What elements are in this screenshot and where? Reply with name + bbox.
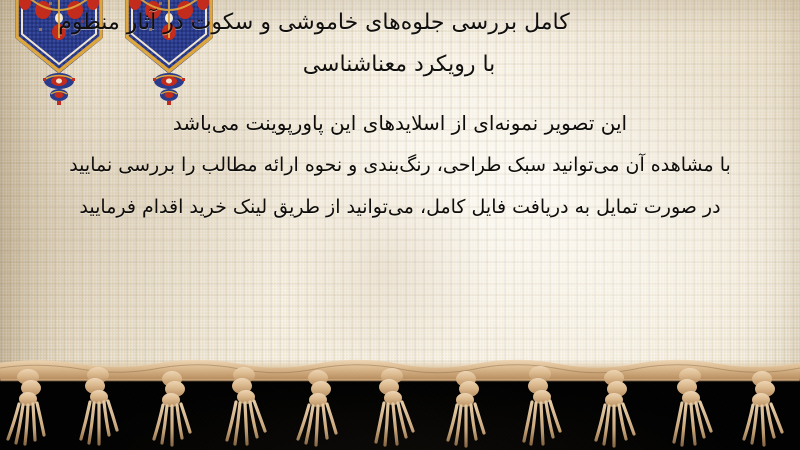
- fringe-tassels-icon: [0, 355, 800, 450]
- pendant-drop-lower: [160, 89, 178, 101]
- body-line-1: این تصویر نمونه‌ای از اسلایدهای این پاور…: [14, 102, 786, 144]
- slide-title-line-1: کامل بررسی جلوه‌های خاموشی و سکوت در آثا…: [8, 2, 790, 44]
- slide-body: این تصویر نمونه‌ای از اسلایدهای این پاور…: [0, 102, 800, 228]
- pendant-drop-lower-2: [50, 89, 68, 101]
- body-line-3: در صورت تمایل به دریافت فایل کامل، می‌تو…: [14, 186, 786, 228]
- carpet-fringe: [0, 355, 800, 450]
- slide-title: کامل بررسی جلوه‌های خاموشی و سکوت در آثا…: [0, 2, 800, 86]
- body-line-2: با مشاهده آن می‌توانید سبک طراحی، رنگ‌بن…: [14, 144, 786, 186]
- presentation-slide: کامل بررسی جلوه‌های خاموشی و سکوت در آثا…: [0, 0, 800, 450]
- slide-title-line-2: با رویکرد معناشناسی: [8, 44, 790, 86]
